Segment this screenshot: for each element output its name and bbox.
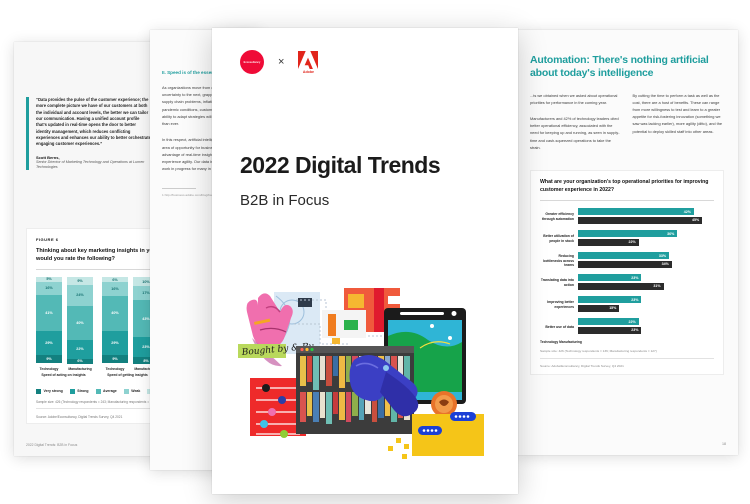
bar-row: Greater efficiency through automation42%… <box>540 208 714 225</box>
bar: 22% <box>578 239 639 246</box>
figure-source: Source: Adobe/Econsultancy, Digital Tren… <box>540 364 714 368</box>
adobe-a-icon <box>298 51 318 69</box>
bar-row-bars: 22%23% <box>578 318 714 335</box>
cover-title: 2022 Digital Trends <box>240 152 490 179</box>
stacked-bar-segment: 40% <box>102 296 128 330</box>
bar-row-label: Improving better experiences <box>540 300 578 309</box>
chart-legend: Technology Manufacturing <box>540 340 714 344</box>
page-footer: 2022 Digital Trends: B2B in Focus <box>26 443 77 447</box>
stacked-bar-segment: 9% <box>67 277 93 285</box>
bar-row: Improving better experiences23%15% <box>540 296 714 313</box>
stacked-bar-segment: 29% <box>102 331 128 356</box>
bar-row-bars: 23%31% <box>578 274 714 291</box>
group-label: Speed of acting on insights <box>36 373 91 382</box>
stacked-bar-segment: 29% <box>36 331 62 356</box>
bar: 23% <box>578 296 641 303</box>
bar: 22% <box>578 318 639 325</box>
econsultancy-logo: Econsultancy <box>240 50 264 74</box>
times-separator-icon: × <box>278 57 284 68</box>
stacked-bar: 5%16%41%29%9% <box>36 277 62 364</box>
horizontal-bar-chart: Greater efficiency through automation42%… <box>540 208 714 335</box>
cover-illustration: Bought by & Ry <box>236 286 494 468</box>
operational-priorities-figure: What are your organization's top operati… <box>530 170 724 375</box>
text-columns: ...ts we obtained when we asked about op… <box>530 92 724 161</box>
page-right[interactable]: Automation: There's nothing artificial a… <box>516 30 738 455</box>
stacked-bar-group: 5%16%41%29%9%9%24%40%22%6% <box>36 277 93 364</box>
bar-row-label: Greater efficiency through automation <box>540 212 578 221</box>
bar-row-label: Reducing bottlenecks across teams <box>540 254 578 267</box>
bar-row-label: Better utilization of people in stock <box>540 234 578 243</box>
bar-row: Translating data into action23%31% <box>540 274 714 291</box>
stacked-bar-segment: 6% <box>67 359 93 364</box>
footnote-divider <box>162 188 196 189</box>
page-right-content: Automation: There's nothing artificial a… <box>516 30 738 455</box>
legend-label: Average <box>103 389 117 393</box>
legend-swatch <box>70 389 75 394</box>
legend-label: Very strong <box>44 389 63 393</box>
stacked-bar-segment: 9% <box>36 355 62 363</box>
legend-swatch <box>124 389 129 394</box>
divider <box>540 200 714 201</box>
stacked-bar-segment: 9% <box>102 355 128 363</box>
bar-row-bars: 23%15% <box>578 296 714 313</box>
page-number: 18 <box>722 442 726 446</box>
group-label: Speed of getting insights <box>100 373 155 382</box>
legend-swatch <box>36 389 41 394</box>
legend-label: Weak <box>131 389 140 393</box>
legend-item: Strong <box>70 389 89 394</box>
bar-row-bars: 42%45% <box>578 208 714 225</box>
bar: 33% <box>578 252 669 259</box>
bar: 15% <box>578 305 619 312</box>
bar-row-label: Translating data into action <box>540 278 578 287</box>
logo-row: Econsultancy × Adobe <box>240 50 490 74</box>
stacked-bar-segment: 40% <box>67 306 93 340</box>
bar-row-label: Better use of data <box>540 325 578 329</box>
adobe-logo: Adobe <box>298 51 318 74</box>
body-paragraph: Manufacturers and 42% of technology lead… <box>530 115 622 151</box>
cover-subtitle: B2B in Focus <box>240 192 490 209</box>
bar-row: Better use of data22%23% <box>540 318 714 335</box>
legend-item: Average <box>96 389 117 394</box>
bar: 31% <box>578 283 664 290</box>
category-label: Technology <box>36 367 62 371</box>
stacked-bar-segment: 24% <box>67 285 93 306</box>
legend-item: Very strong <box>36 389 63 394</box>
pull-quote-text: “Data provides the pulse of the customer… <box>36 97 151 148</box>
adobe-wordmark: Adobe <box>303 70 314 74</box>
bar: 42% <box>578 208 694 215</box>
cover-content: Econsultancy × Adobe 2022 Digital Trends… <box>212 28 518 494</box>
bar-row: Better utilization of people in stock36%… <box>540 230 714 247</box>
bar-row-bars: 36%22% <box>578 230 714 247</box>
bar: 34% <box>578 261 672 268</box>
pull-quote-role: Senior Director of Marketing Technology … <box>36 160 151 171</box>
stacked-bar-segment: 16% <box>102 282 128 296</box>
legend-item: Weak <box>124 389 141 394</box>
text-column-left: ...ts we obtained when we asked about op… <box>530 92 622 161</box>
bar-row-bars: 33%34% <box>578 252 714 269</box>
pull-quote: “Data provides the pulse of the customer… <box>26 97 151 170</box>
section-heading: Automation: There's nothing artificial a… <box>530 54 724 80</box>
divider <box>540 358 714 359</box>
bar: 36% <box>578 230 677 237</box>
stacked-bar-segment: 16% <box>36 282 62 296</box>
text-column-right: By cutting the time to perform a task as… <box>633 92 725 161</box>
legend-swatch <box>96 389 101 394</box>
figure-sample-note: Sample size: 426 (Technology respondents… <box>540 349 714 353</box>
legend-label: Strong <box>77 389 88 393</box>
stacked-bar: 6%16%40%29%9% <box>102 277 128 364</box>
category-label-group: TechnologyManufacturing <box>36 367 93 371</box>
bar: 23% <box>578 274 641 281</box>
bar: 23% <box>578 327 641 334</box>
stacked-bar: 9%24%40%22%6% <box>67 277 93 364</box>
category-label: Manufacturing <box>67 367 93 371</box>
category-label: Technology <box>102 367 128 371</box>
stacked-bar-segment: 41% <box>36 295 62 330</box>
figure-title: What are your organization's top operati… <box>540 179 714 194</box>
stacked-bar-segment: 22% <box>67 340 93 359</box>
bar: 45% <box>578 217 702 224</box>
screenshot-stage: “Data provides the pulse of the customer… <box>0 0 750 504</box>
bar-row: Reducing bottlenecks across teams33%34% <box>540 252 714 269</box>
body-paragraph: By cutting the time to perform a task as… <box>633 92 725 135</box>
econsultancy-logo-text: Econsultancy <box>244 61 261 64</box>
body-paragraph: ...ts we obtained when we asked about op… <box>530 92 622 106</box>
page-cover[interactable]: Econsultancy × Adobe 2022 Digital Trends… <box>212 28 518 494</box>
